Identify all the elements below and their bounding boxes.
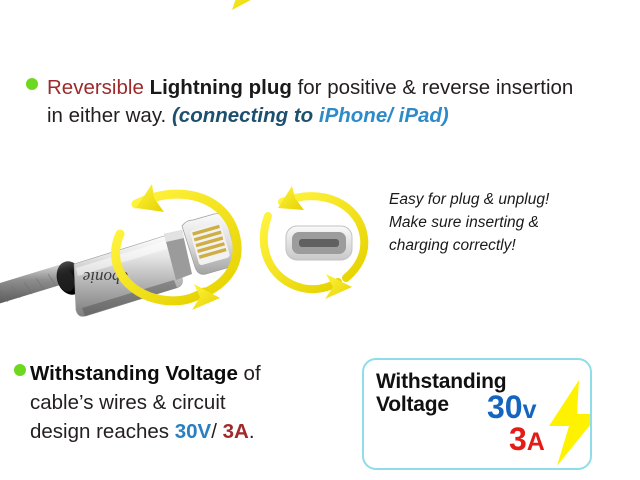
value-separator: /: [211, 420, 222, 443]
badge-voltage-unit: v: [523, 396, 537, 424]
reversible-feature-block: Reversible Lightning plug for positive &…: [26, 78, 626, 130]
lightning-bolt-icon: [539, 378, 592, 468]
withstanding-voltage-badge: Withstanding Voltage 30v 3A: [362, 358, 592, 470]
lightning-connector-illustration: ebonie: [0, 168, 386, 318]
badge-inner: Withstanding Voltage 30v 3A: [364, 360, 590, 468]
bullet-dot-icon: [26, 78, 38, 90]
reversible-line2-prefix: in either way.: [47, 104, 166, 127]
infographic-page: Reversible Lightning plug for positive &…: [0, 0, 640, 480]
rotation-arrow-left: [222, 0, 262, 10]
withstanding-line2: cable’s wires & circuit: [30, 391, 226, 414]
reversible-text: Reversible Lightning plug for positive &…: [47, 74, 573, 130]
word-lightning-plug: Lightning plug: [150, 76, 292, 99]
top-illustration-section: [0, 0, 640, 72]
plug-note-line-1: Easy for plug & unplug!: [389, 188, 629, 211]
sentence-period: .: [249, 420, 255, 443]
withstanding-bold-lead: Withstanding Voltage: [30, 362, 238, 385]
badge-voltage-number: 30: [487, 389, 523, 425]
reversible-text-after: for positive & reverse insertion: [292, 76, 573, 99]
withstanding-after-bold: of: [238, 362, 261, 385]
word-reversible: Reversible: [47, 76, 144, 99]
withstanding-line3-prefix: design reaches: [30, 420, 175, 443]
device-compatibility-text: iPhone/ iPad): [319, 104, 449, 127]
voltage-value: 30V: [175, 420, 211, 443]
current-value: 3A: [223, 420, 249, 443]
plug-illustration-section: ebonie: [0, 168, 640, 318]
plug-note-line-2: Make sure inserting &: [389, 211, 629, 234]
withstanding-voltage-line: Withstanding Voltage of cable’s wires & …: [14, 364, 354, 446]
top-cable-device-illustration: [0, 0, 440, 72]
lightning-port-graphic: [286, 226, 352, 260]
plug-note-line-3: charging correctly!: [389, 234, 629, 257]
reversible-line: Reversible Lightning plug for positive &…: [26, 78, 626, 130]
withstanding-voltage-text: Withstanding Voltage of cable’s wires & …: [30, 359, 261, 446]
bullet-dot-icon: [14, 364, 26, 376]
badge-current-number: 3: [509, 421, 527, 457]
withstanding-voltage-block: Withstanding Voltage of cable’s wires & …: [14, 364, 354, 446]
badge-line-2: Voltage: [376, 393, 449, 417]
plug-usage-note: Easy for plug & unplug! Make sure insert…: [389, 188, 629, 257]
connecting-to-text: (connecting to: [172, 104, 313, 127]
